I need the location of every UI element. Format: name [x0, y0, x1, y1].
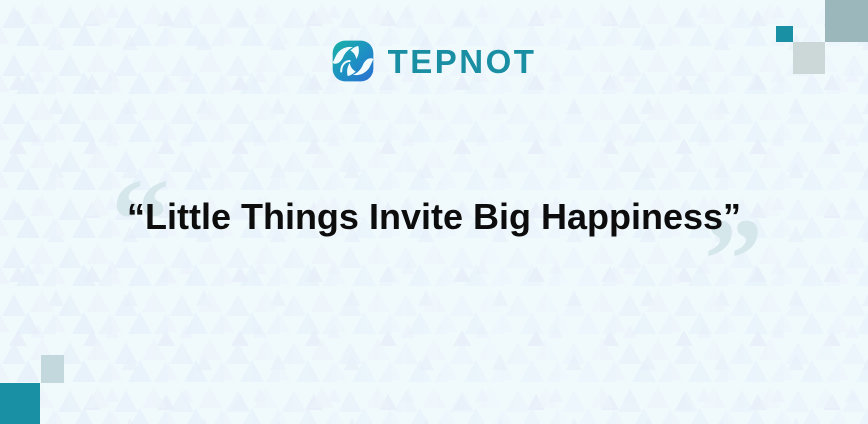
decorative-square-top-right-large — [825, 0, 868, 42]
quote-block: “ ” “Little Things Invite Big Happiness” — [0, 172, 868, 262]
decorative-square-bottom-left-teal — [0, 383, 40, 424]
quote-text: “Little Things Invite Big Happiness” — [127, 197, 741, 237]
decorative-square-bottom-left-gray — [41, 355, 64, 383]
brand-wordmark: TEPNOT — [388, 45, 537, 78]
tepnot-pinwheel-logo-icon — [332, 40, 374, 82]
quote-banner: TEPNOT “ ” “Little Things Invite Big Hap… — [0, 0, 868, 424]
brand-logo: TEPNOT — [0, 40, 868, 82]
